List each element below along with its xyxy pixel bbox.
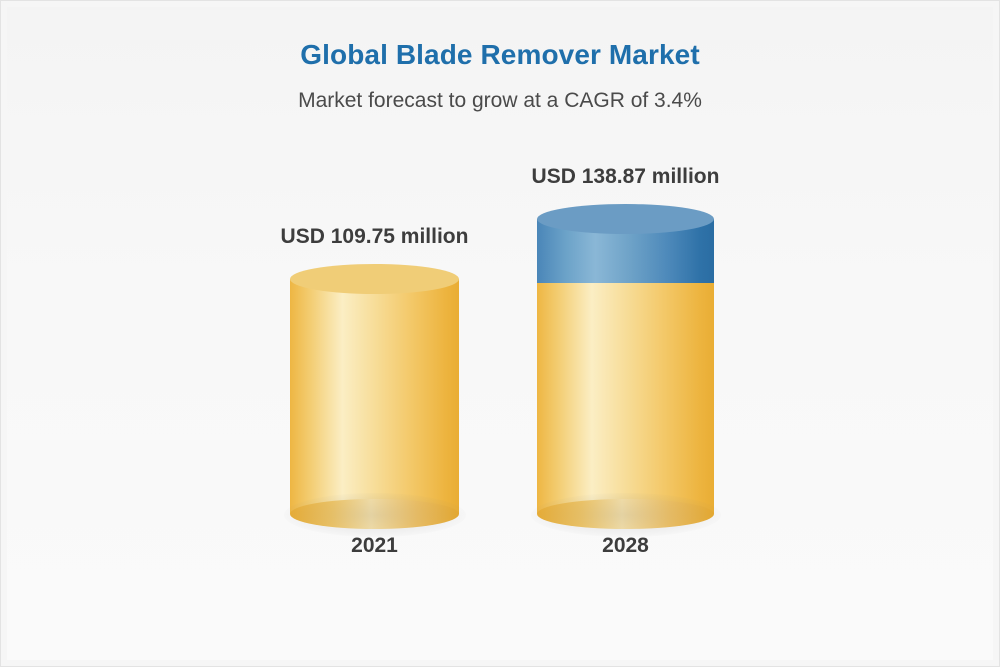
bar-category-label-2028: 2028 xyxy=(537,534,714,558)
infographic-canvas: Global Blade Remover Market Market forec… xyxy=(0,0,1000,667)
cylinder-2021 xyxy=(290,264,459,514)
bar-2028[interactable] xyxy=(537,204,714,514)
bar-category-label-2021: 2021 xyxy=(290,534,459,558)
bar-shadow-2021 xyxy=(284,493,466,537)
cylinder-body-segment-base-2028 xyxy=(537,283,714,514)
bar-2021[interactable] xyxy=(290,264,459,514)
cylinder-body-2021 xyxy=(290,279,459,514)
bar-value-label-2028: USD 138.87 million xyxy=(441,165,810,189)
bar-value-label-2021: USD 109.75 million xyxy=(190,225,559,249)
cylinder-top-cap-2028 xyxy=(537,204,714,234)
cylinder-2028 xyxy=(537,204,714,514)
cylinder-top-cap-2021 xyxy=(290,264,459,294)
bar-shadow-2028 xyxy=(531,493,721,537)
chart-plot-area: USD 109.75 million 2021 USD 138.87 milli… xyxy=(1,1,1000,667)
